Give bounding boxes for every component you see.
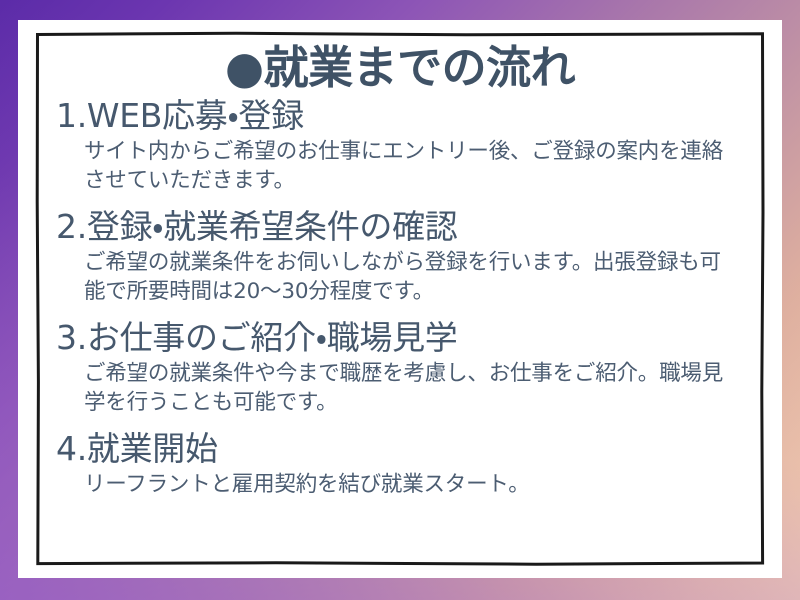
step-1-heading: 1.WEB応募・登録 (54, 97, 746, 136)
step-4-heading: 4.就業開始 (54, 430, 746, 469)
step-3-heading: 3.お仕事のご紹介・職場見学 (54, 319, 746, 358)
page-title: ●就業までの流れ (54, 44, 746, 91)
step-item-4: 4.就業開始 リーフラントと雇用契約を結び就業スタート。 (54, 430, 746, 499)
step-2-heading: 2.登録・就業希望条件の確認 (54, 208, 746, 247)
step-4-body: リーフラントと雇用契約を結び就業スタート。 (54, 470, 746, 499)
step-item-2: 2.登録・就業希望条件の確認 ご希望の就業条件をお伺いしながら登録を行います。出… (54, 208, 746, 306)
step-1-body: サイト内からご希望のお仕事にエントリー後、ご登録の案内を連絡させていただきます。 (54, 137, 746, 195)
step-3-body: ご希望の就業条件や今まで職歴を考慮し、お仕事をご紹介。職場見学を行うことも可能で… (54, 359, 746, 417)
step-2-body: ご希望の就業条件をお伺いしながら登録を行います。出張登録も可能で所要時間は20〜… (54, 248, 746, 306)
step-item-1: 1.WEB応募・登録 サイト内からご希望のお仕事にエントリー後、ご登録の案内を連… (54, 97, 746, 195)
step-item-3: 3.お仕事のご紹介・職場見学 ご希望の就業条件や今まで職歴を考慮し、お仕事をご紹… (54, 319, 746, 417)
poster-content: ●就業までの流れ 1.WEB応募・登録 サイト内からご希望のお仕事にエントリー後… (36, 32, 764, 565)
poster-root: ●就業までの流れ 1.WEB応募・登録 サイト内からご希望のお仕事にエントリー後… (0, 0, 800, 600)
